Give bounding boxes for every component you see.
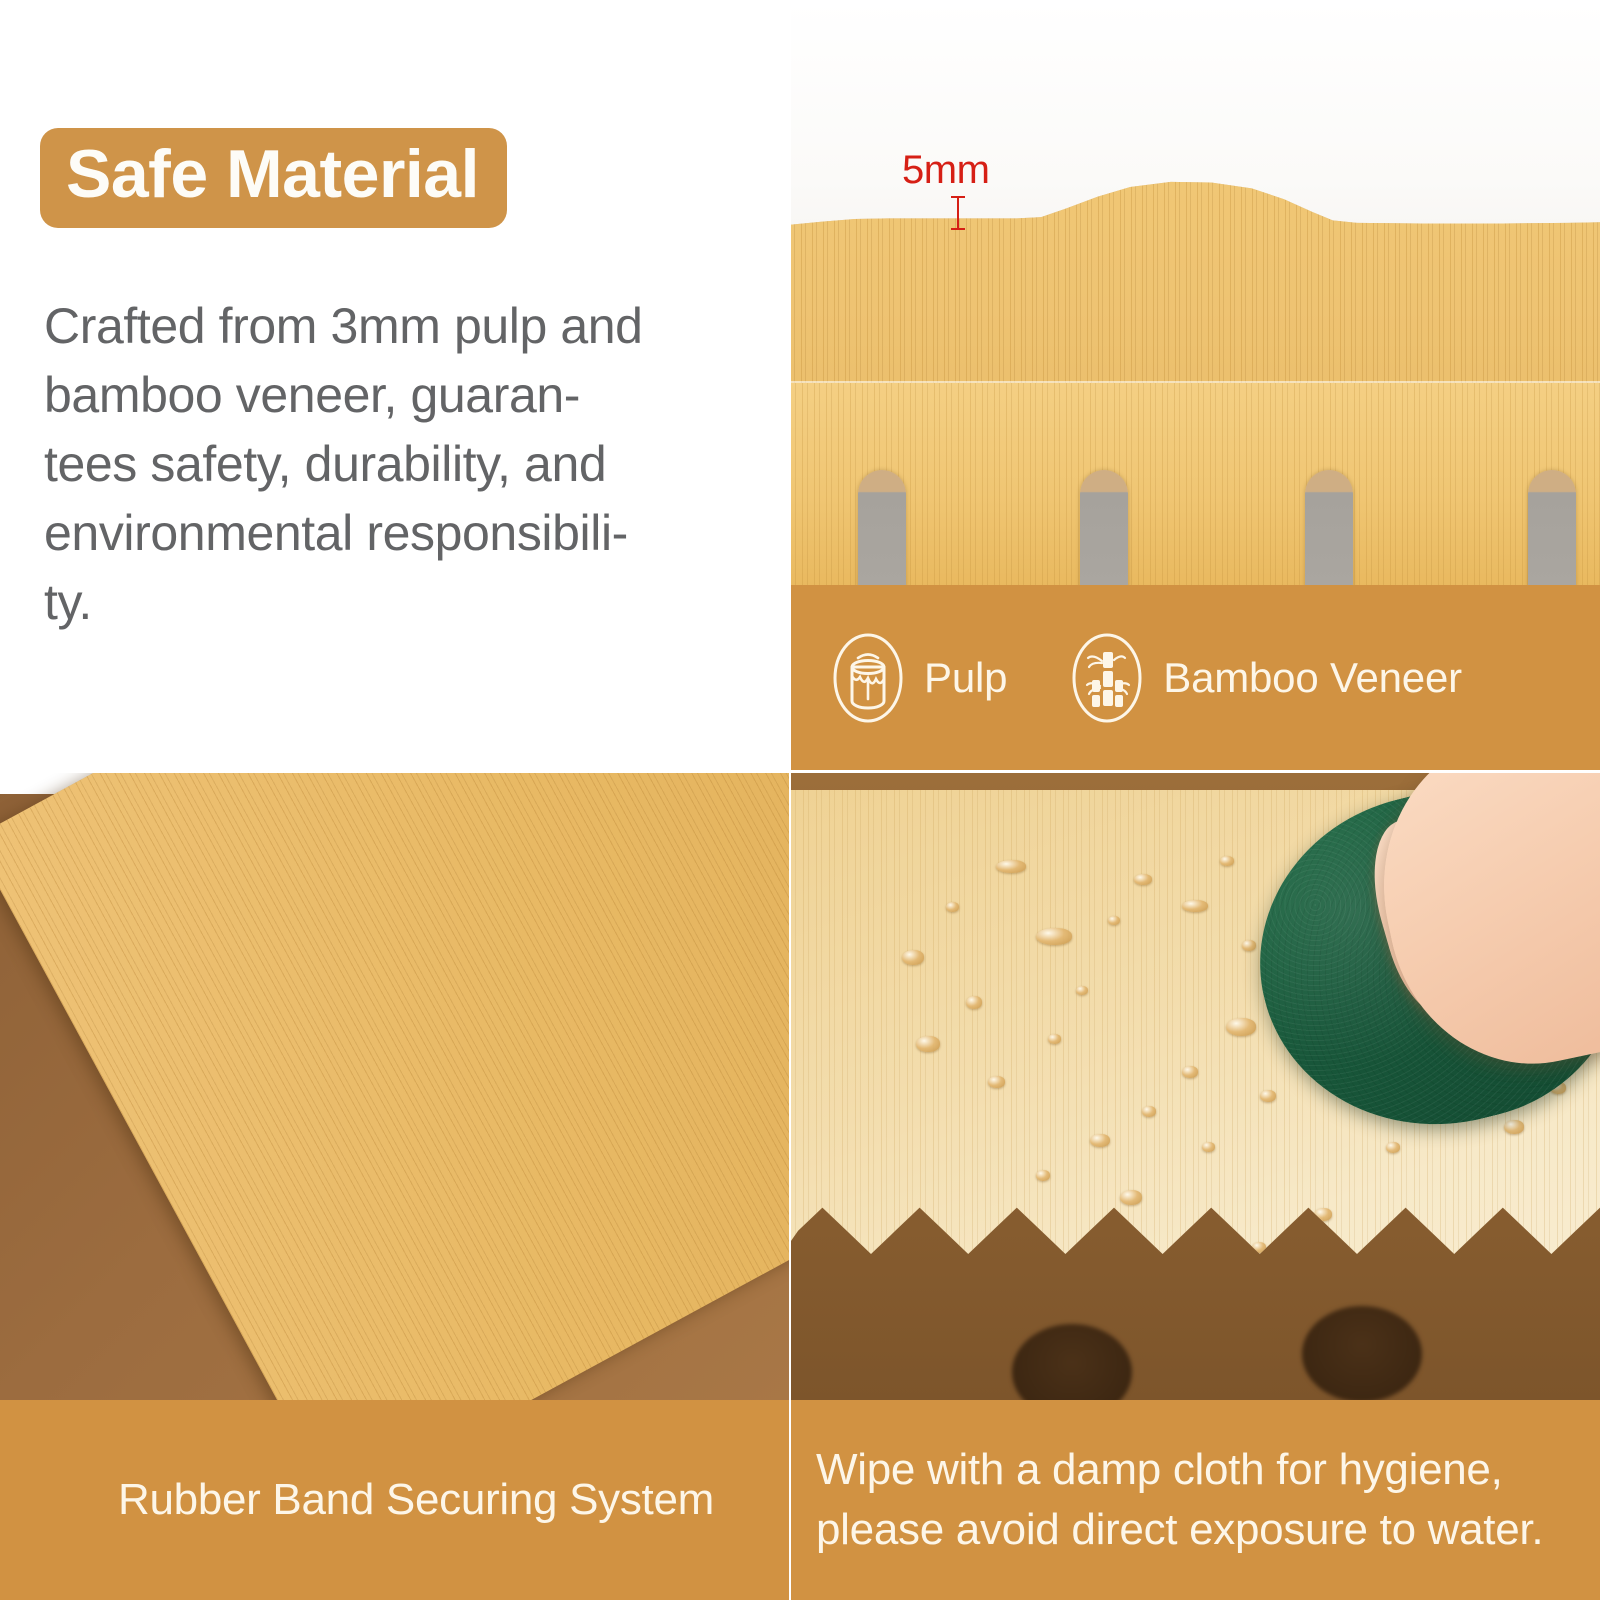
- body-line-5: ty.: [44, 568, 744, 637]
- bamboo-stalk-icon: [1069, 630, 1145, 726]
- panel-divider-horizontal: [0, 770, 1600, 773]
- body-copy: Crafted from 3mm pulp and bamboo veneer,…: [44, 292, 744, 637]
- material-label-pulp: Pulp: [924, 654, 1007, 702]
- caption-line-1: Wipe with a damp cloth for hygiene,: [816, 1440, 1600, 1500]
- dimension-label-5mm: 5mm: [902, 148, 989, 193]
- caption-band-rubber-band: Rubber Band Securing System: [0, 1400, 790, 1600]
- body-line-2: bamboo veneer, guaran-: [44, 361, 744, 430]
- slot-cutout: [1528, 470, 1576, 585]
- caption-line-1: Rubber Band Securing System: [118, 1470, 790, 1530]
- cross-section-photo: 5mm: [790, 0, 1600, 585]
- body-line-1: Crafted from 3mm pulp and: [44, 292, 744, 361]
- material-label-bamboo-veneer: Bamboo Veneer: [1163, 654, 1462, 702]
- paint-bucket-icon: [830, 630, 906, 726]
- product-infographic: Safe Material Crafted from 3mm pulp and …: [0, 0, 1600, 1600]
- slot-cutout: [858, 470, 906, 585]
- caption-text: Rubber Band Securing System: [118, 1470, 790, 1530]
- panel-material-photo: 5mm Pulp: [790, 0, 1600, 770]
- board-hole: [1302, 1306, 1422, 1400]
- lower-bamboo-panel: [790, 383, 1600, 585]
- body-line-4: environmental responsibili-: [44, 499, 744, 568]
- panel-cleaning: Wipe with a damp cloth for hygiene, plea…: [790, 772, 1600, 1600]
- page-title: Safe Material: [40, 128, 507, 228]
- caption-band-cleaning: Wipe with a damp cloth for hygiene, plea…: [790, 1400, 1600, 1600]
- panel-divider-vertical: [789, 0, 791, 1600]
- materials-icon-band: Pulp: [790, 585, 1600, 770]
- slot-cutout: [1080, 470, 1128, 585]
- cleaning-photo: [790, 772, 1600, 1400]
- caption-text: Wipe with a damp cloth for hygiene, plea…: [816, 1440, 1600, 1560]
- panel-rubber-band: Rubber Band Securing System: [0, 772, 790, 1600]
- dimension-ibeam-marker: [950, 196, 966, 230]
- material-item-bamboo-veneer: Bamboo Veneer: [1069, 630, 1462, 726]
- panel-safe-material-text: Safe Material Crafted from 3mm pulp and …: [0, 0, 790, 770]
- caption-line-2: please avoid direct exposure to water.: [816, 1500, 1600, 1560]
- material-item-pulp: Pulp: [830, 630, 1007, 726]
- rubber-band-photo: [0, 772, 790, 1400]
- slot-cutout: [1305, 470, 1353, 585]
- body-line-3: tees safety, durability, and: [44, 430, 744, 499]
